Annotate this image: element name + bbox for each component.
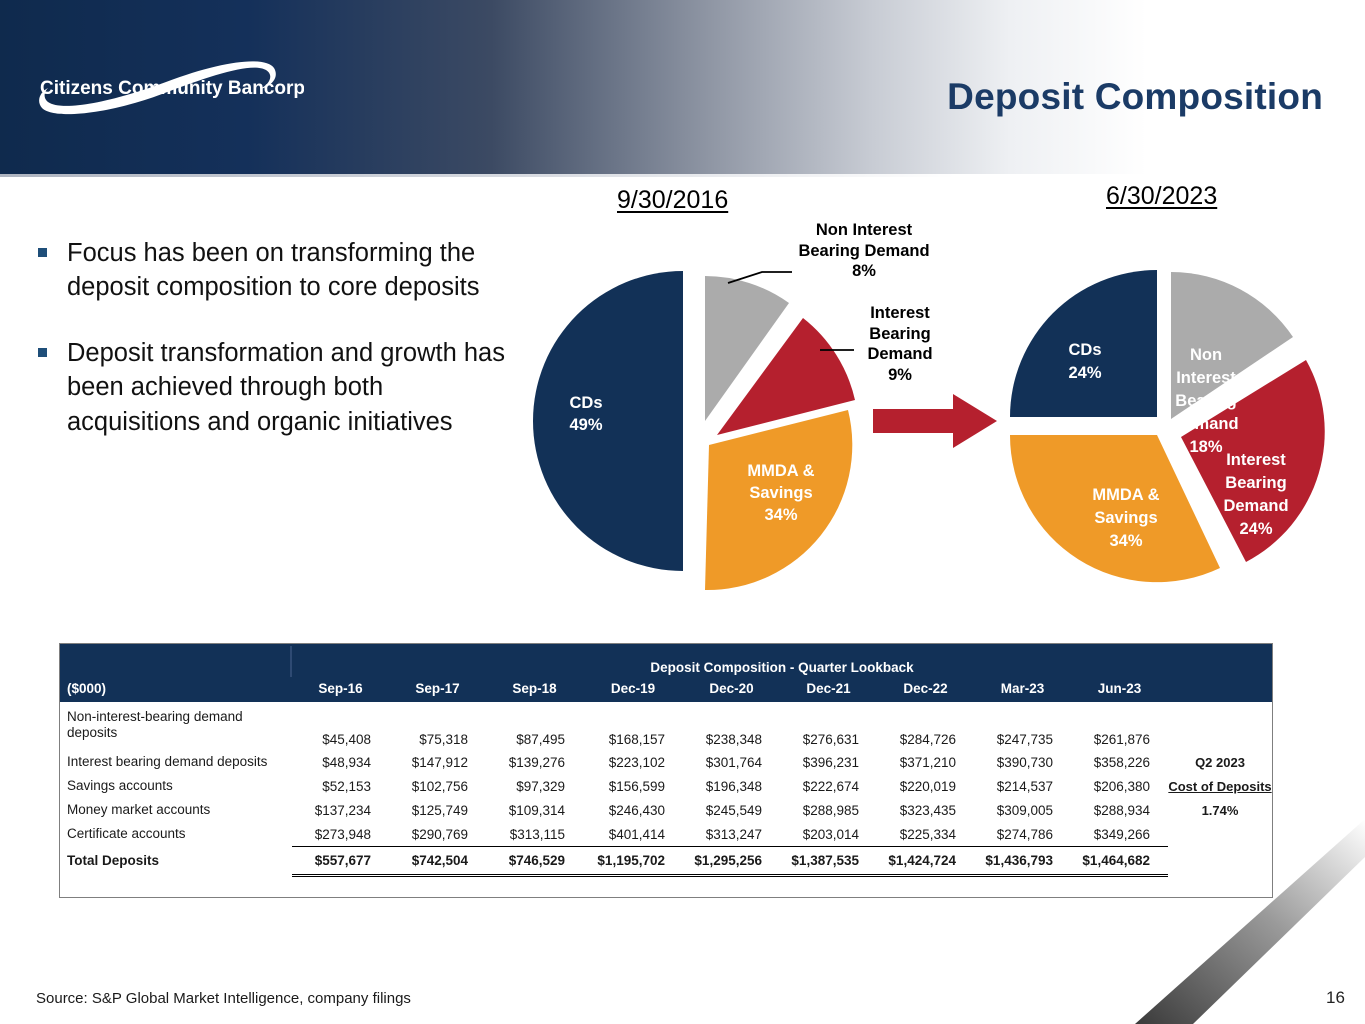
cell-value: $349,266 bbox=[1071, 822, 1168, 847]
pie-label-nib-line3: Bearing bbox=[1175, 392, 1236, 410]
pie-label-ib-line3: Demand bbox=[1223, 497, 1288, 515]
total-value: $746,529 bbox=[486, 847, 583, 876]
side-note bbox=[1168, 822, 1272, 847]
column-header-dec-21: Dec-21 bbox=[780, 675, 877, 702]
cell-value: $222,674 bbox=[780, 774, 877, 798]
cell-value: $168,157 bbox=[583, 702, 683, 750]
cell-value: $223,102 bbox=[583, 750, 683, 774]
transition-arrow bbox=[873, 392, 998, 450]
cell-value: $371,210 bbox=[877, 750, 974, 774]
row-label-line2: deposits bbox=[67, 725, 292, 741]
callout-line1: Interest bbox=[852, 303, 948, 324]
pie-right-date: 6/30/2023 bbox=[1106, 182, 1217, 211]
cell-value: $125,749 bbox=[389, 798, 486, 822]
side-note-cost-of-deposits-value: 1.74% bbox=[1168, 798, 1272, 822]
bullet-list: Focus has been on transforming the depos… bbox=[38, 236, 508, 471]
row-label: Savings accounts bbox=[60, 774, 292, 798]
cell-value: $390,730 bbox=[974, 750, 1071, 774]
cell-value: $323,435 bbox=[877, 798, 974, 822]
pie-chart-2016: CDs 49% MMDA & Savings 34% bbox=[520, 250, 900, 600]
pie-label-nib-pct: 18% bbox=[1189, 438, 1222, 456]
pie-left-date: 9/30/2016 bbox=[617, 186, 728, 215]
cell-value: $274,786 bbox=[974, 822, 1071, 847]
row-label: Money market accounts bbox=[60, 798, 292, 822]
callout-line3: Demand bbox=[852, 344, 948, 365]
total-value: $557,677 bbox=[292, 847, 389, 876]
total-value: $1,387,535 bbox=[780, 847, 877, 876]
list-item: Deposit transformation and growth has be… bbox=[38, 336, 508, 438]
pie-label-mmda-pct: 34% bbox=[1109, 532, 1142, 550]
total-side-spacer bbox=[1168, 847, 1272, 876]
row-label-line1: Non-interest-bearing demand bbox=[67, 709, 292, 725]
side-note bbox=[1168, 702, 1272, 750]
cell-value: $87,495 bbox=[486, 702, 583, 750]
callout-line2: Bearing Demand bbox=[790, 241, 938, 262]
pie-label-mmda-line1: MMDA & bbox=[747, 462, 814, 480]
column-header-sep-18: Sep-18 bbox=[486, 675, 583, 702]
table-total-row: Total Deposits $557,677 $742,504 $746,52… bbox=[60, 847, 1272, 876]
callout-pct: 8% bbox=[790, 261, 938, 282]
column-header-jun-23: Jun-23 bbox=[1071, 675, 1168, 702]
pie-label-nib-line4: Demand bbox=[1173, 415, 1238, 433]
column-header-unit: ($000) bbox=[60, 675, 292, 702]
pie-label-mmda-line2: Savings bbox=[1094, 509, 1157, 527]
callout-line2: Bearing bbox=[852, 324, 948, 345]
column-header-dec-22: Dec-22 bbox=[877, 675, 974, 702]
cell-value: $52,153 bbox=[292, 774, 389, 798]
cell-value: $203,014 bbox=[780, 822, 877, 847]
callout-line1: Non Interest bbox=[790, 220, 938, 241]
pie-label-cds-name: CDs bbox=[1068, 341, 1101, 359]
cell-value: $109,314 bbox=[486, 798, 583, 822]
cell-value: $156,599 bbox=[583, 774, 683, 798]
page-number: 16 bbox=[1326, 988, 1345, 1008]
cell-value: $246,430 bbox=[583, 798, 683, 822]
row-label: Interest bearing demand deposits bbox=[60, 750, 292, 774]
pie-label-cds-pct: 49% bbox=[569, 416, 602, 434]
cell-value: $313,247 bbox=[683, 822, 780, 847]
cell-value: $247,735 bbox=[974, 702, 1071, 750]
table-banner-title: Deposit Composition - Quarter Lookback bbox=[292, 644, 1272, 675]
cell-value: $301,764 bbox=[683, 750, 780, 774]
cell-value: $245,549 bbox=[683, 798, 780, 822]
header-underline bbox=[0, 174, 1365, 177]
table-header-row: ($000) Sep-16 Sep-17 Sep-18 Dec-19 Dec-2… bbox=[60, 675, 1272, 702]
cell-value: $309,005 bbox=[974, 798, 1071, 822]
cell-value: $288,985 bbox=[780, 798, 877, 822]
table-banner-row: Deposit Composition - Quarter Lookback bbox=[60, 644, 1272, 675]
total-label: Total Deposits bbox=[60, 847, 292, 876]
cell-value: $273,948 bbox=[292, 822, 389, 847]
cell-value: $48,934 bbox=[292, 750, 389, 774]
total-value: $1,464,682 bbox=[1071, 847, 1168, 876]
company-logo: Citizens Community Bancorp Inc. bbox=[34, 56, 304, 118]
pie-label-ib-pct: 24% bbox=[1239, 520, 1272, 538]
table-row: Non-interest-bearing demand deposits $45… bbox=[60, 702, 1272, 750]
cell-value: $45,408 bbox=[292, 702, 389, 750]
column-header-dec-19: Dec-19 bbox=[583, 675, 683, 702]
bullet-text: Focus has been on transforming the depos… bbox=[67, 236, 508, 304]
cell-value: $261,876 bbox=[1071, 702, 1168, 750]
cell-value: $396,231 bbox=[780, 750, 877, 774]
pie-callout-non-interest-bearing-demand: Non Interest Bearing Demand 8% bbox=[790, 220, 938, 282]
pie-label-ib-line2: Bearing bbox=[1225, 474, 1286, 492]
cell-value: $97,329 bbox=[486, 774, 583, 798]
row-label: Non-interest-bearing demand deposits bbox=[60, 702, 292, 750]
cell-value: $225,334 bbox=[877, 822, 974, 847]
pie-label-nib-line2: Interest bbox=[1176, 369, 1236, 387]
cell-value: $196,348 bbox=[683, 774, 780, 798]
cell-value: $288,934 bbox=[1071, 798, 1168, 822]
list-item: Focus has been on transforming the depos… bbox=[38, 236, 508, 304]
side-note-cost-of-deposits-label: Cost of Deposits bbox=[1168, 774, 1272, 798]
cell-value: $214,537 bbox=[974, 774, 1071, 798]
pie-label-cds-pct: 24% bbox=[1068, 364, 1101, 382]
bullet-square-icon bbox=[38, 248, 47, 257]
cell-value: $147,912 bbox=[389, 750, 486, 774]
pie-label-ib-line1: Interest bbox=[1226, 451, 1286, 469]
cell-value: $238,348 bbox=[683, 702, 780, 750]
pie-callout-interest-bearing-demand: Interest Bearing Demand 9% bbox=[852, 303, 948, 386]
right-arrow-icon bbox=[873, 394, 997, 448]
pie-label-mmda-line2: Savings bbox=[749, 484, 812, 502]
cell-value: $137,234 bbox=[292, 798, 389, 822]
page-title: Deposit Composition bbox=[947, 76, 1323, 118]
banner-spacer bbox=[60, 644, 292, 675]
source-note: Source: S&P Global Market Intelligence, … bbox=[36, 990, 411, 1007]
column-header-side bbox=[1168, 675, 1272, 702]
bullet-square-icon bbox=[38, 348, 47, 357]
total-value: $1,424,724 bbox=[877, 847, 974, 876]
row-label: Certificate accounts bbox=[60, 822, 292, 847]
cell-value: $313,115 bbox=[486, 822, 583, 847]
pie-slice-cds bbox=[533, 271, 683, 571]
cell-value: $290,769 bbox=[389, 822, 486, 847]
cell-value: $401,414 bbox=[583, 822, 683, 847]
column-header-mar-23: Mar-23 bbox=[974, 675, 1071, 702]
total-value: $1,436,793 bbox=[974, 847, 1071, 876]
column-header-dec-20: Dec-20 bbox=[683, 675, 780, 702]
logo-text: Citizens Community Bancorp Inc. bbox=[40, 78, 304, 99]
pie-chart-2023: Non Interest Bearing Demand 18% Interest… bbox=[990, 250, 1350, 600]
table-row: Savings accounts $52,153 $102,756 $97,32… bbox=[60, 774, 1272, 798]
cell-value: $206,380 bbox=[1071, 774, 1168, 798]
cell-value: $358,226 bbox=[1071, 750, 1168, 774]
side-note-quarter: Q2 2023 bbox=[1168, 750, 1272, 774]
cell-value: $220,019 bbox=[877, 774, 974, 798]
column-header-sep-16: Sep-16 bbox=[292, 675, 389, 702]
deposit-composition-table: Deposit Composition - Quarter Lookback (… bbox=[59, 643, 1273, 898]
table-row: Interest bearing demand deposits $48,934… bbox=[60, 750, 1272, 774]
pie-label-mmda-pct: 34% bbox=[764, 506, 797, 524]
cell-value: $139,276 bbox=[486, 750, 583, 774]
pie-label-mmda-line1: MMDA & bbox=[1092, 486, 1159, 504]
cell-value: $102,756 bbox=[389, 774, 486, 798]
callout-pct: 9% bbox=[852, 365, 948, 386]
pie-label-nib-line1: Non bbox=[1190, 346, 1222, 364]
cell-value: $75,318 bbox=[389, 702, 486, 750]
total-value: $1,195,702 bbox=[583, 847, 683, 876]
column-header-sep-17: Sep-17 bbox=[389, 675, 486, 702]
total-value: $742,504 bbox=[389, 847, 486, 876]
table-row: Money market accounts $137,234 $125,749 … bbox=[60, 798, 1272, 822]
pie-label-cds-name: CDs bbox=[569, 394, 602, 412]
bullet-text: Deposit transformation and growth has be… bbox=[67, 336, 508, 438]
total-value: $1,295,256 bbox=[683, 847, 780, 876]
cell-value: $276,631 bbox=[780, 702, 877, 750]
cell-value: $284,726 bbox=[877, 702, 974, 750]
table-row: Certificate accounts $273,948 $290,769 $… bbox=[60, 822, 1272, 847]
